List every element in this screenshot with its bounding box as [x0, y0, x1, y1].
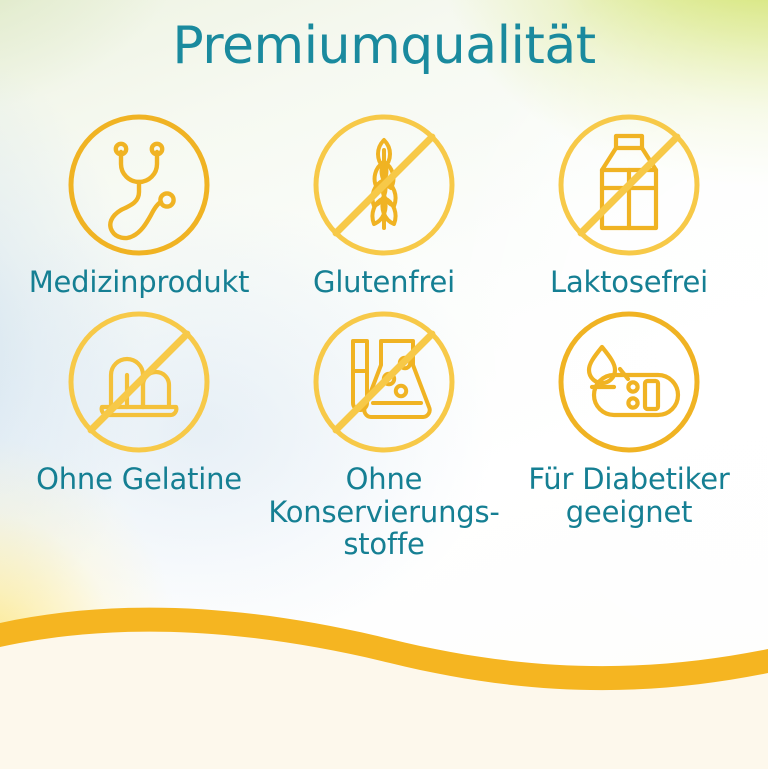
badge-label: Medizinprodukt — [29, 266, 250, 299]
lab-flask-icon — [309, 307, 459, 457]
badge-row-1: Medizinprodukt — [0, 110, 768, 299]
badge-ohne-konservierungsstoffe: Ohne Konservierungs- stoffe — [262, 307, 507, 561]
badge-label: Laktosefrei — [550, 266, 708, 299]
quality-badge-grid: Medizinprodukt — [0, 110, 768, 561]
milk-carton-icon — [554, 110, 704, 260]
stethoscope-icon — [64, 110, 214, 260]
badge-row-2: Ohne Gelatine — [0, 299, 768, 561]
badge-laktosefrei: Laktosefrei — [507, 110, 752, 299]
badge-glutenfrei: Glutenfrei — [262, 110, 507, 299]
gelatin-mold-icon — [64, 307, 214, 457]
badge-label: Glutenfrei — [313, 266, 455, 299]
badge-label: Für Diabetiker geeignet — [528, 463, 729, 529]
wheat-icon — [309, 110, 459, 260]
page-title: Premiumqualität — [0, 18, 768, 75]
glucose-meter-icon — [554, 307, 704, 457]
badge-label: Ohne Konservierungs- stoffe — [268, 463, 499, 561]
premium-quality-poster: Premiumqualität — [0, 0, 768, 769]
badge-medizinprodukt: Medizinprodukt — [17, 110, 262, 299]
bottom-wave-decoration — [0, 599, 768, 769]
badge-fuer-diabetiker-geeignet: Für Diabetiker geeignet — [507, 307, 752, 529]
badge-label: Ohne Gelatine — [36, 463, 242, 496]
badge-ohne-gelatine: Ohne Gelatine — [17, 307, 262, 496]
